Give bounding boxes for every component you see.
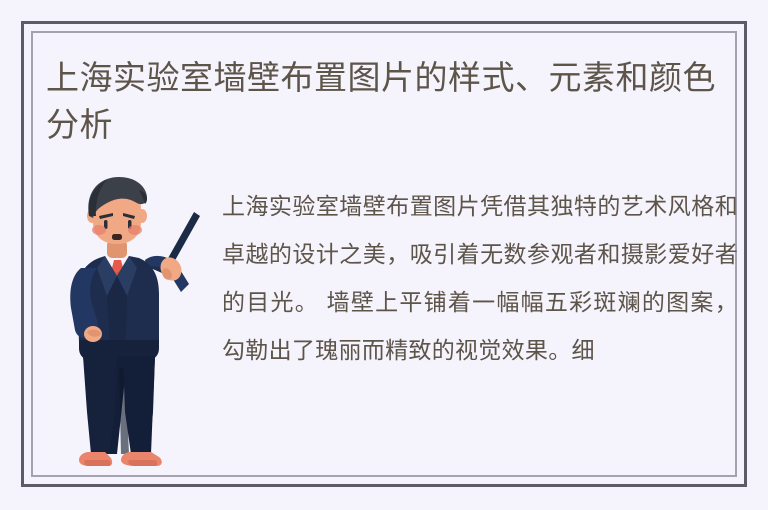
article-body-text: 上海实验室墙壁布置图片凭借其独特的艺术风格和卓越的设计之美，吸引着无数参观者和摄… (222, 182, 738, 374)
page-title: 上海实验室墙壁布置图片的样式、元素和颜色分析 (46, 54, 736, 148)
businessman-with-pointer-icon (55, 172, 220, 472)
illustration-container (55, 172, 220, 472)
page-canvas: 上海实验室墙壁布置图片的样式、元素和颜色分析 (0, 0, 768, 510)
